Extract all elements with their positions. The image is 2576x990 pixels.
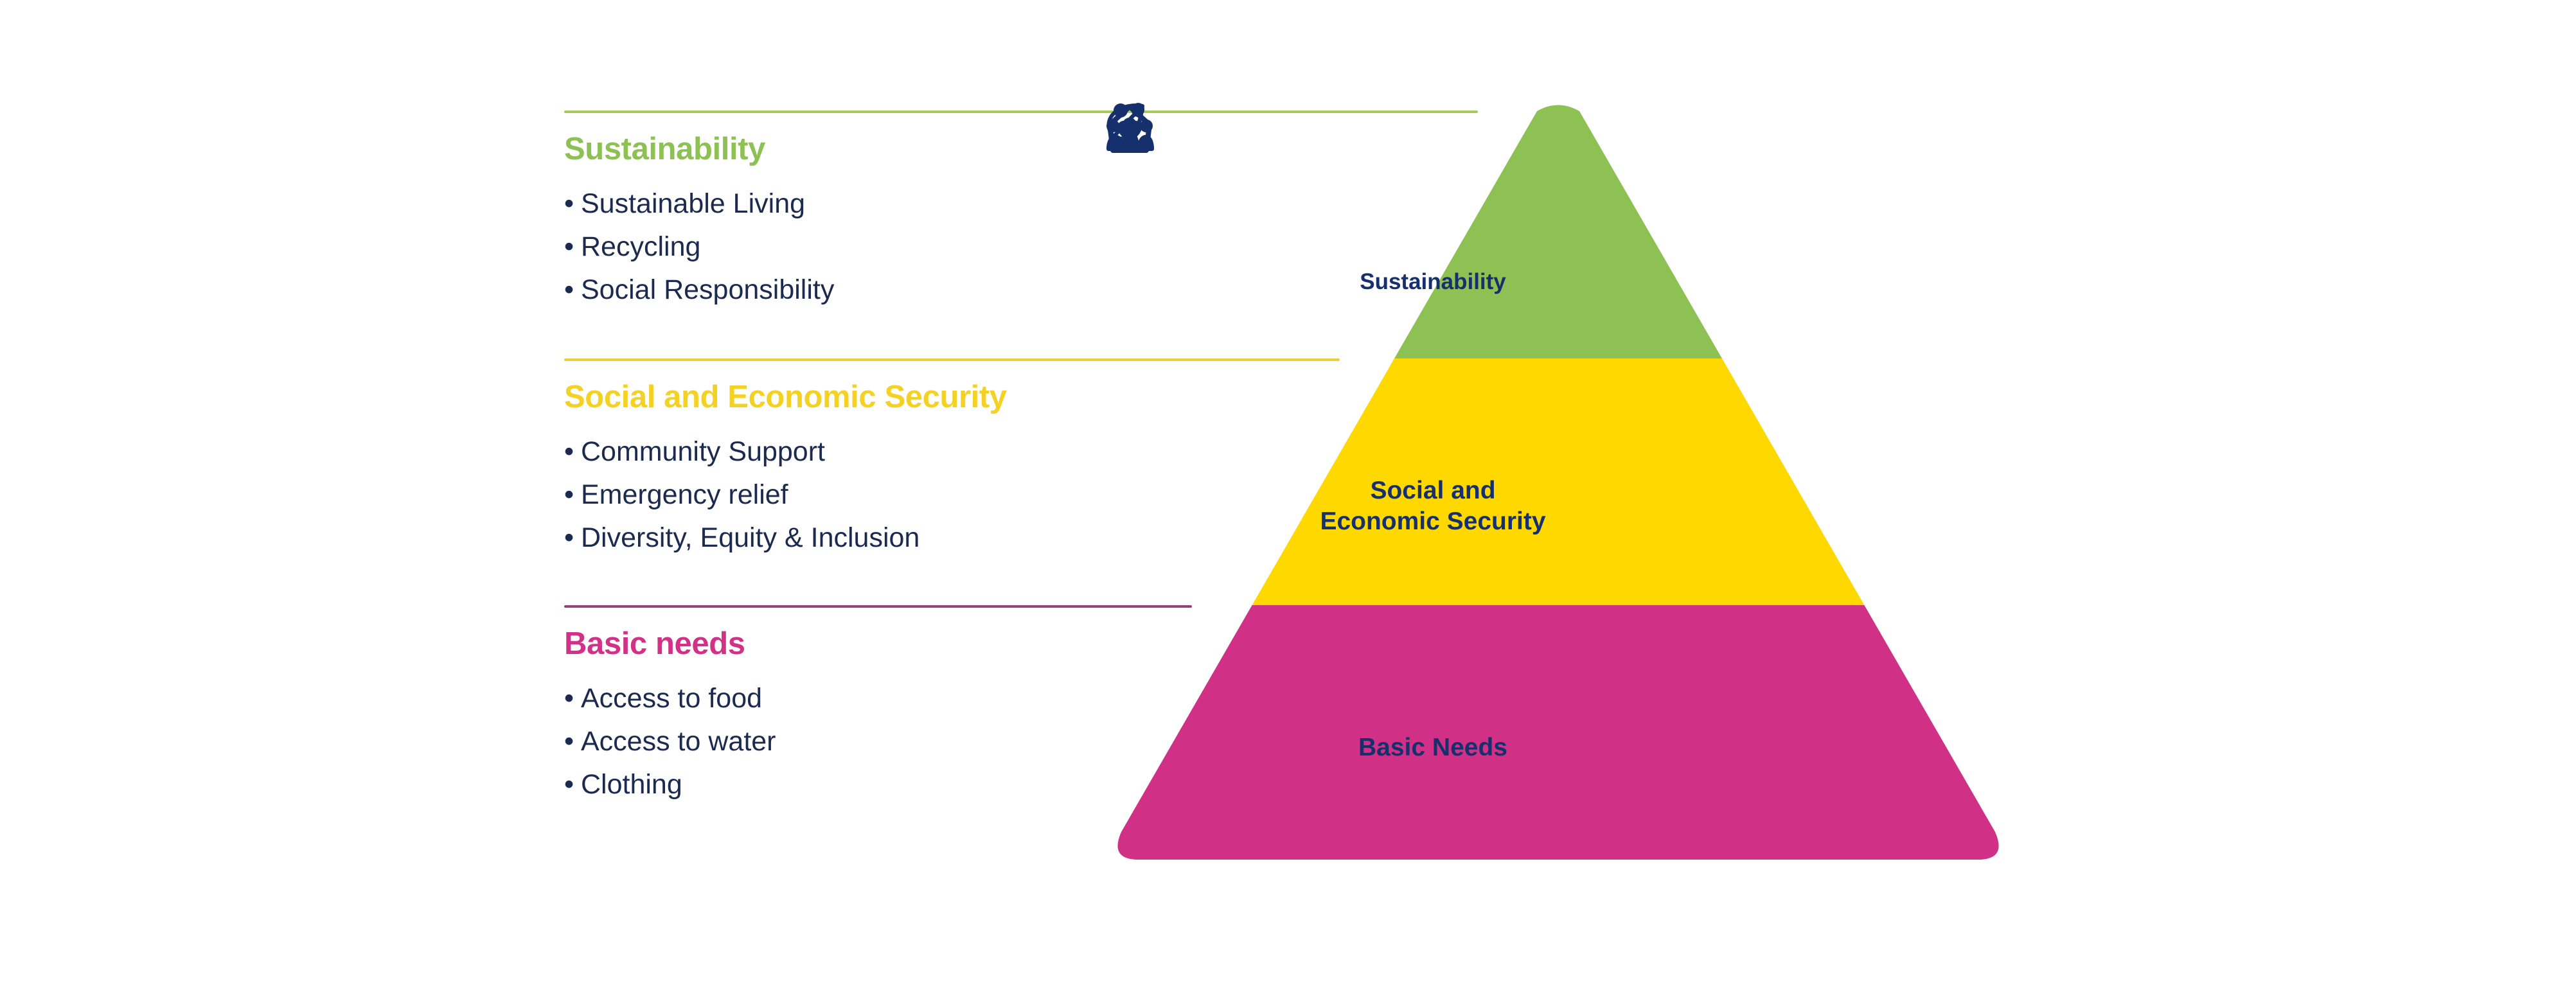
bullet-marker-icon: • [564,473,581,517]
bullet-marker-icon: • [564,430,581,473]
bullet-marker-icon: • [564,720,581,763]
list-item-label: Sustainable Living [581,188,805,219]
section-divider-basic [564,605,1192,608]
pyramid-tier-basic-needs [1105,605,2011,880]
pyramid-tier-label-social: Social and Economic Security [1279,475,1587,536]
list-item-label: Community Support [581,436,825,467]
list-item: •Clothing [564,763,1192,806]
list-item-label: Emergency relief [581,479,788,510]
section-heading-basic: Basic needs [564,626,1192,662]
pyramid-tier-sustainability [1105,103,2011,358]
pyramid-tier-label-basic-needs: Basic Needs [1317,732,1549,763]
list-item-label: Access to food [581,683,762,714]
list-item: •Access to food [564,677,1192,720]
list-item-label: Recycling [581,231,700,262]
bullet-marker-icon: • [564,182,581,225]
pyramid-diagram: Sustainability Social and Economic Secur… [1105,103,2011,880]
infographic-canvas: Sustainability •Sustainable Living •Recy… [0,0,2576,990]
section-basic-needs: Basic needs •Access to food •Access to w… [564,605,1192,806]
list-item: •Access to water [564,720,1192,763]
list-item-label: Social Responsibility [581,274,834,305]
bullet-marker-icon: • [564,763,581,806]
bullet-marker-icon: • [564,517,581,560]
bullet-marker-icon: • [564,225,581,269]
list-item-label: Diversity, Equity & Inclusion [581,522,919,553]
bullet-list-basic: •Access to food •Access to water •Clothi… [564,677,1192,806]
list-item-label: Access to water [581,726,776,757]
house-heart-icon [1105,103,1154,154]
pyramid-tier-label-sustainability: Sustainability [1324,269,1542,296]
bullet-marker-icon: • [564,677,581,720]
bullet-marker-icon: • [564,269,581,312]
list-item-label: Clothing [581,769,682,800]
